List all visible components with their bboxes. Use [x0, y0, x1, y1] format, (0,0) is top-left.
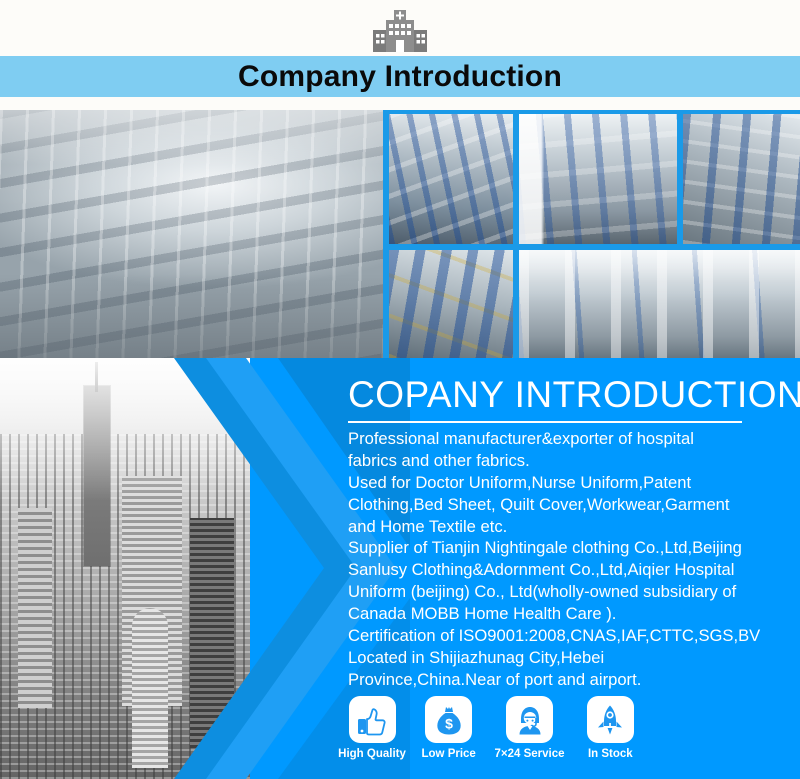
feature-in-stock[interactable]: In Stock [581, 696, 640, 760]
introduction-heading: COPANY INTRODUCTION [348, 374, 800, 416]
top-banner: Company Introduction [0, 0, 800, 110]
feature-badges: High Quality $ Low Price [340, 696, 640, 776]
hospital-building-icon [371, 8, 429, 54]
photo-stenter-machine [519, 114, 677, 244]
intro-line: fabrics and other fabrics. [348, 450, 800, 472]
svg-text:$: $ [445, 715, 453, 731]
heading-divider [348, 421, 742, 423]
photo-weaving-looms-hall [0, 110, 383, 358]
feature-label: 7×24 Service [494, 748, 564, 760]
feature-label: High Quality [338, 748, 406, 760]
intro-line: Certification of ISO9001:2008,CNAS,IAF,C… [348, 625, 800, 647]
photo-finishing-hall [519, 250, 800, 358]
company-introduction-page: Company Introduction [0, 0, 800, 779]
intro-line: Professional manufacturer&exporter of ho… [348, 428, 800, 450]
thumbs-up-icon [349, 696, 396, 743]
intro-line: Supplier of Tianjin Nightingale clothing… [348, 537, 800, 559]
intro-line: Uniform (beijing) Co., Ltd(wholly-owned … [348, 581, 800, 603]
intro-line: Used for Doctor Uniform,Nurse Uniform,Pa… [348, 472, 800, 494]
factory-photo-collage [0, 110, 800, 358]
feature-label: Low Price [422, 748, 476, 760]
introduction-section: COPANY INTRODUCTION Professional manufac… [0, 358, 800, 779]
intro-line: Province,China.Near of port and airport. [348, 669, 800, 691]
money-bag-icon: $ [425, 696, 472, 743]
feature-label: In Stock [588, 748, 633, 760]
feature-service[interactable]: 7×24 Service [493, 696, 565, 760]
feature-high-quality[interactable]: High Quality [340, 696, 404, 760]
intro-line: Sanlusy Clothing&Adornment Co.,Ltd,Aiqie… [348, 559, 800, 581]
photo-printing-frame [389, 250, 513, 358]
feature-low-price[interactable]: $ Low Price [419, 696, 478, 760]
page-title: Company Introduction [0, 56, 800, 97]
rocket-icon [587, 696, 634, 743]
intro-line: and Home Textile etc. [348, 516, 800, 538]
photo-coating-line [683, 114, 800, 244]
intro-line: Located in Shijiazhunag City,Hebei [348, 647, 800, 669]
introduction-body: Professional manufacturer&exporter of ho… [348, 428, 800, 691]
headset-operator-icon [506, 696, 553, 743]
intro-line: Clothing,Bed Sheet, Quilt Cover,Workwear… [348, 494, 800, 516]
photo-dyeing-line-1 [389, 114, 513, 244]
intro-line: Canada MOBB Home Health Care ). [348, 603, 800, 625]
